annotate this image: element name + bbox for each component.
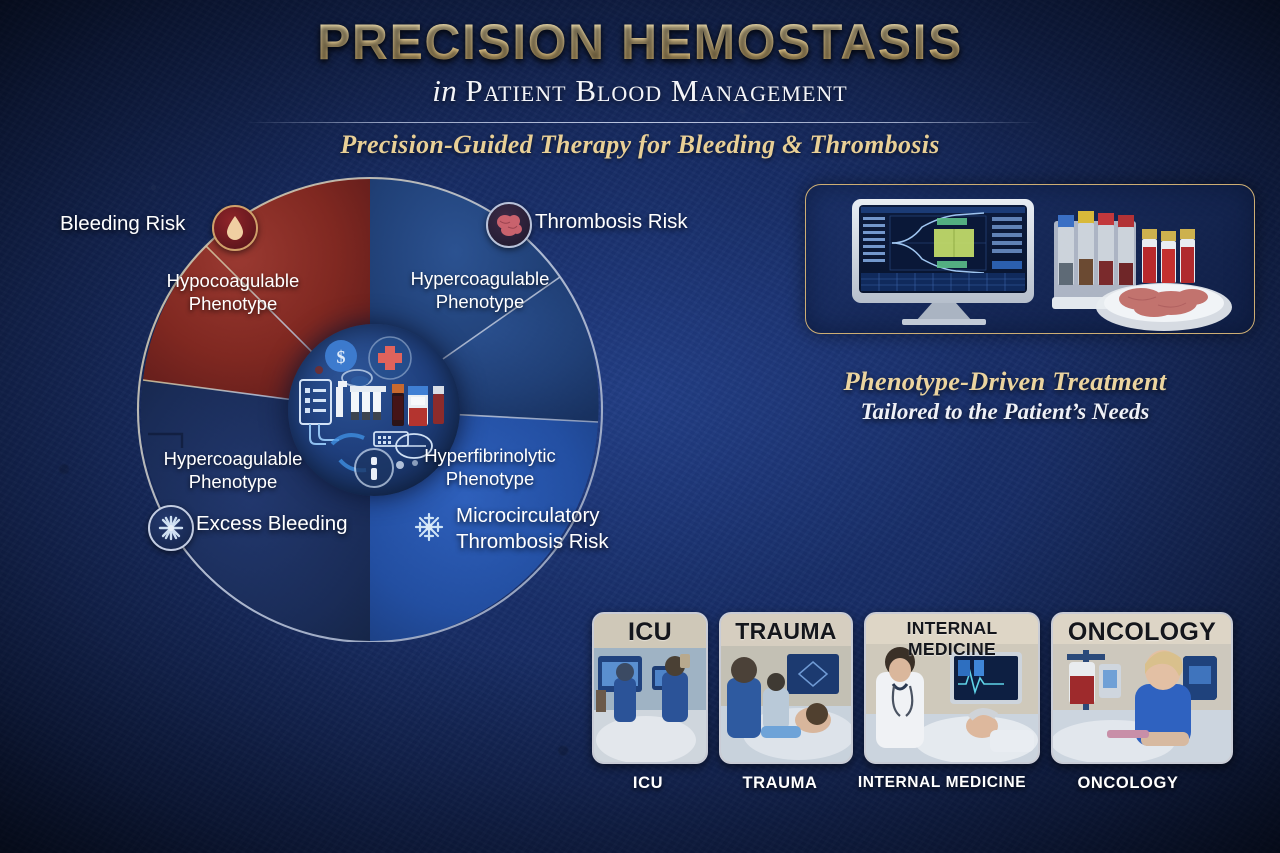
phenotype-wheel: $ [120,172,620,642]
infographic-poster: PRECISION HEMOSTASIS in Patient Blood Ma… [0,0,1280,853]
blood-drop-icon [212,205,258,251]
lab-scene-panel [805,184,1255,334]
specialty-card-oncology[interactable]: ONCOLOGY [1051,612,1233,764]
card-title: ICU [594,618,706,647]
title-block: PRECISION HEMOSTASIS in Patient Blood Ma… [0,14,1280,110]
starburst-icon [148,505,194,551]
card-title: ONCOLOGY [1053,618,1231,647]
blood-vial-red-icon [433,386,444,424]
specialty-card-internal-medicine[interactable]: INTERNAL MEDICINE [864,612,1040,764]
petri-dish [1096,283,1232,331]
blood-clot-icon [486,202,532,248]
blood-vials [1142,229,1195,283]
lab-scene-illustration [806,185,1254,333]
hub-icon-collage: $ [288,324,460,496]
specialty-card-icu[interactable]: ICU [592,612,708,764]
tagline: Precision-Guided Therapy for Bleeding & … [0,130,1280,160]
card-title: INTERNAL MEDICINE [866,618,1038,660]
clipboard-checklist-icon [300,380,339,444]
medical-cross-icon [369,337,411,379]
specialty-card-trauma[interactable]: TRAUMA [719,612,853,764]
subtitle-in: in [432,73,457,108]
badge-label-line2: Thrombosis Risk [456,529,641,555]
cost-dollar-icon: $ [325,340,357,372]
caption-internal-medicine: INTERNAL MEDICINE [856,774,1028,800]
svg-text:$: $ [337,347,346,367]
badge-label-bleeding-risk: Bleeding Risk [60,212,185,236]
caption-icu: ICU [592,774,704,800]
badge-label-microcirculatory-thrombosis: Microcirculatory Thrombosis Risk [456,503,641,555]
blood-vial-icon [392,384,404,426]
center-hub: $ [288,324,460,496]
badge-label-thrombosis-risk: Thrombosis Risk [535,210,688,234]
specialty-card-row: ICU TRAUMA [592,612,1224,762]
pipette-icon [336,381,347,417]
phenotype-treatment-title: Phenotype-Driven Treatment [770,366,1240,397]
caption-trauma: TRAUMA [715,774,845,800]
page-subtitle: in Patient Blood Management [0,72,1280,110]
subtitle-caps: Patient Blood Management [465,73,847,108]
badge-label-excess-bleeding: Excess Bleeding [196,512,348,536]
card-title: TRAUMA [721,618,851,645]
analyzer-monitor [852,199,1034,325]
snowflake-icon [410,508,448,546]
title-divider [245,122,1040,123]
info-icon [355,449,393,487]
caption-oncology: ONCOLOGY [1039,774,1217,800]
test-tube-rack-icon [350,386,386,420]
specialty-caption-row: ICU TRAUMA INTERNAL MEDICINE ONCOLOGY [592,774,1224,800]
badge-label-line1: Microcirculatory [456,503,641,529]
blood-bag-icon [408,386,428,426]
page-title: PRECISION HEMOSTASIS [0,14,1280,70]
phenotype-treatment-subtitle: Tailored to the Patient’s Needs [770,399,1240,425]
